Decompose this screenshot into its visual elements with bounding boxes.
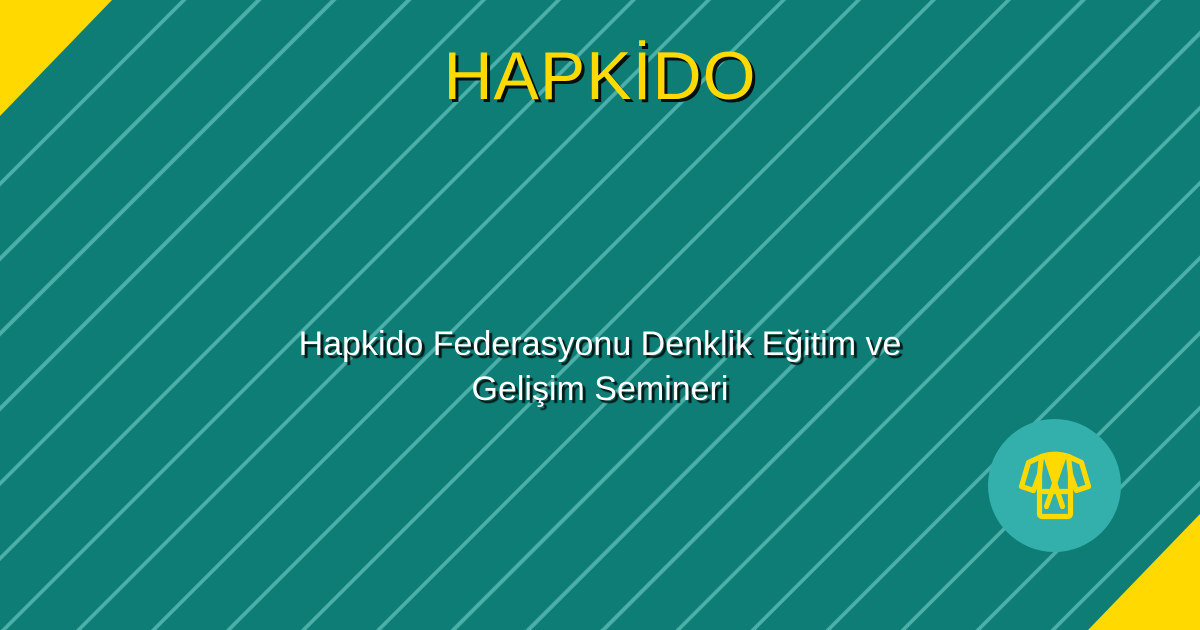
page-title: HAPKİDO <box>0 42 1200 110</box>
badge-circle <box>988 419 1121 552</box>
poster-card: HAPKİDO Hapkido Federasyonu Denklik Eğit… <box>0 0 1200 630</box>
subtitle-line-2: Gelişim Semineri <box>180 367 1020 412</box>
subtitle: Hapkido Federasyonu Denklik Eğitim ve Ge… <box>180 322 1020 412</box>
corner-accent-bottom-right <box>1088 514 1200 630</box>
martial-arts-uniform-icon <box>1012 443 1098 529</box>
subtitle-line-1: Hapkido Federasyonu Denklik Eğitim ve <box>180 322 1020 367</box>
